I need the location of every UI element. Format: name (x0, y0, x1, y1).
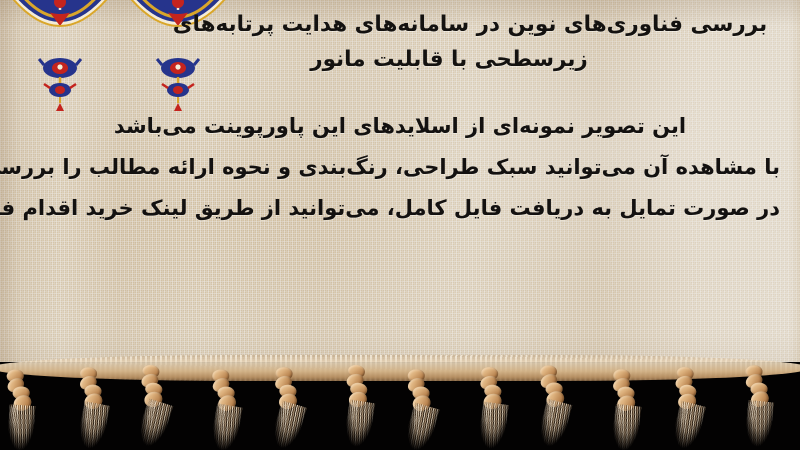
carpet-fringe-tassel (336, 361, 378, 449)
fringe-brush (209, 403, 243, 450)
presentation-slide: بررسی فناوری‌های نوین در سامانه‌های هدای… (0, 0, 800, 450)
medallion-group-left (4, 0, 116, 112)
carpet-fringe-tassel (665, 363, 707, 450)
carpet-fringe-tassel (470, 363, 512, 450)
fringe-brush (669, 401, 705, 450)
body-line-1: این تصویر نمونه‌ای از اسلایدهای این پاور… (20, 106, 780, 147)
carpet-fringe-tassel (70, 363, 112, 450)
slide-body-text: این تصویر نمونه‌ای از اسلایدهای این پاور… (20, 106, 780, 229)
fringe-brush (6, 404, 35, 450)
persian-carpet-pendant-icon (38, 57, 82, 113)
fringe-brush (76, 401, 110, 450)
slide-title: بررسی فناوری‌های نوین در سامانه‌های هدای… (150, 8, 790, 78)
body-line-2: با مشاهده آن می‌توانید سبک طراحی، رنگ‌بن… (20, 147, 780, 188)
slide-title-line-2: زیرسطحی با قابلیت مانور (150, 43, 748, 78)
fringe-brush (744, 400, 775, 448)
slide-title-line-1: بررسی فناوری‌های نوین در سامانه‌های هدای… (150, 8, 790, 43)
carpet-fringe-tassel (265, 363, 307, 450)
fringe-brush (477, 401, 509, 450)
carpet-fringe-row (0, 360, 800, 450)
fringe-brush (343, 399, 376, 449)
carpet-fringe-tassel (603, 365, 645, 450)
fringe-brush (536, 398, 573, 449)
body-line-3: در صورت تمایل به دریافت فایل کامل، می‌تو… (20, 188, 780, 229)
fringe-brush (610, 404, 641, 450)
fringe-brush (402, 402, 440, 450)
carpet-fringe-tassel (398, 365, 440, 450)
carpet-fringe-tassel (203, 365, 245, 450)
fringe-brush (268, 400, 306, 450)
carpet-fringe-tassel (736, 361, 778, 449)
carpet-fringe-tassel (531, 361, 573, 449)
fringe-brush (135, 398, 174, 450)
persian-carpet-medallion-icon (4, 0, 116, 58)
carpet-fringe-tassel (131, 361, 173, 449)
carpet-fringe-tassel (0, 365, 40, 450)
